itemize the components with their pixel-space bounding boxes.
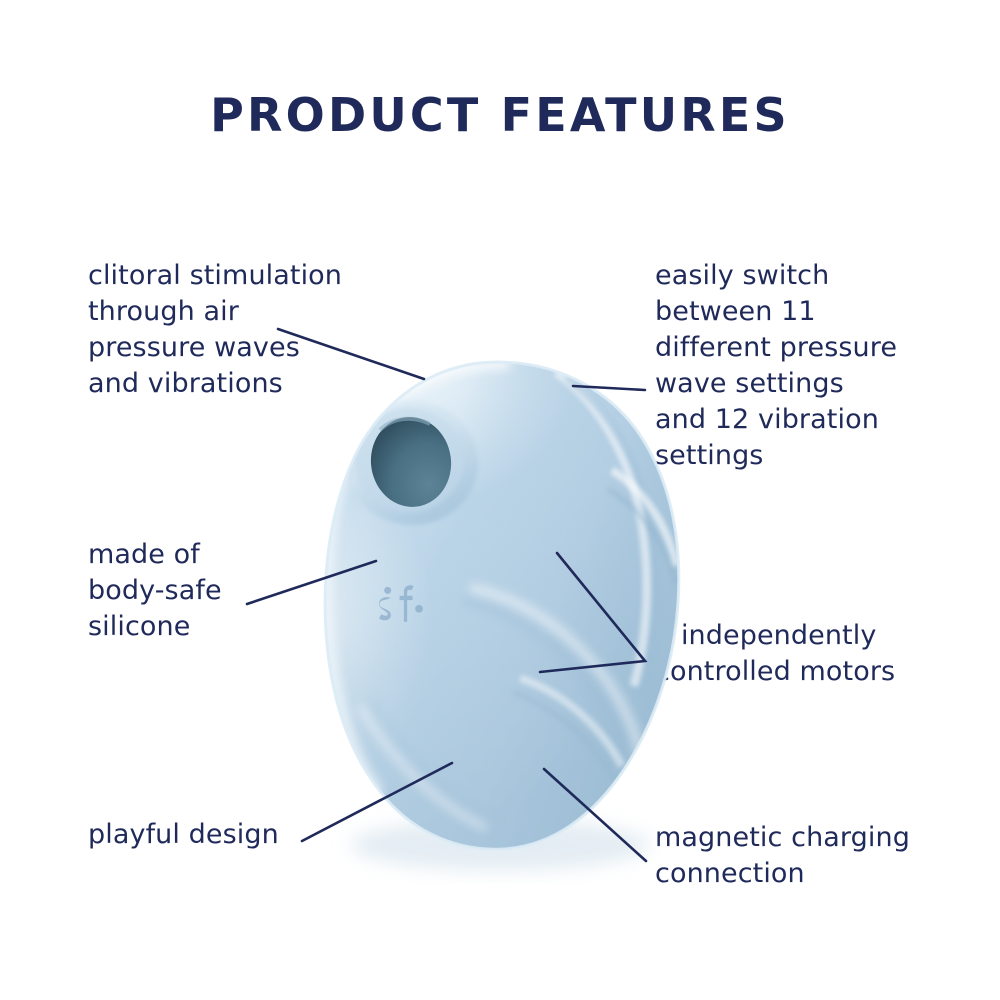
leader-line-settings [573, 386, 645, 390]
leader-lines [0, 0, 1000, 1000]
leader-line-air-pressure [278, 329, 424, 379]
leader-line-silicone [247, 561, 376, 604]
leader-line-charging [544, 769, 646, 861]
leader-line-playful [302, 763, 452, 841]
leader-line-motors [540, 553, 645, 672]
product-features-infographic: PRODUCT FEATURES clitoral stimulation th… [0, 0, 1000, 1000]
